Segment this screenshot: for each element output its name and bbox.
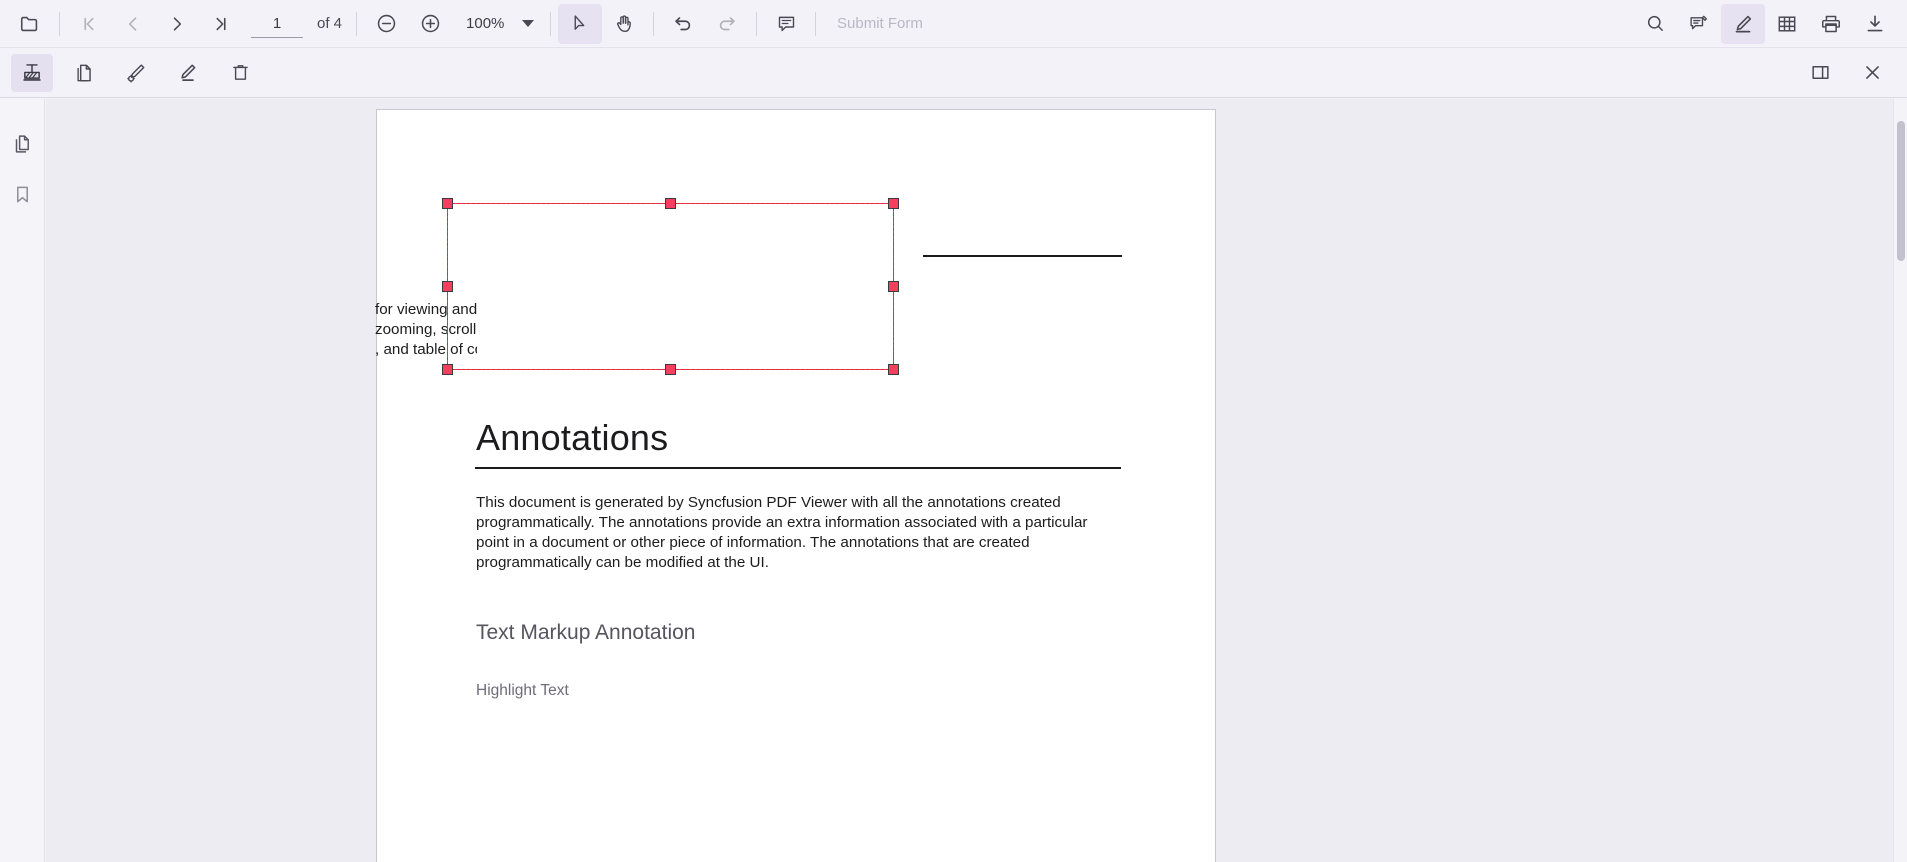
document-viewer[interactable]: for viewing and printing PDF files. It z…: [46, 99, 1893, 862]
left-sidebar: [0, 99, 45, 862]
zoom-out-icon: [375, 12, 398, 35]
document-subsubheading: Highlight Text: [476, 682, 569, 700]
form-table-icon: [1776, 13, 1798, 35]
search-icon: [1645, 13, 1666, 34]
resize-handle-top-right[interactable]: [888, 198, 899, 209]
folder-icon: [19, 13, 41, 35]
print-button[interactable]: [1809, 4, 1853, 44]
first-page-icon: [79, 14, 99, 34]
zoom-out-button[interactable]: [364, 4, 408, 44]
download-icon: [1864, 13, 1886, 35]
resize-handle-middle-right[interactable]: [888, 281, 899, 292]
toolbar-divider-5: [756, 12, 757, 36]
selection-rectangle[interactable]: [447, 203, 894, 370]
toggle-side-panel-button[interactable]: [1799, 54, 1841, 92]
vertical-scrollbar-thumb[interactable]: [1897, 121, 1905, 261]
last-page-button[interactable]: [199, 4, 243, 44]
shape-annotation-tool-button[interactable]: [11, 54, 53, 92]
edit-annotation-pen-button[interactable]: [167, 54, 209, 92]
form-designer-button[interactable]: [1765, 4, 1809, 44]
edit-annotation-button[interactable]: [1721, 4, 1765, 44]
comment-edit-icon: [1688, 13, 1710, 35]
document-subheading: Text Markup Annotation: [476, 621, 695, 645]
side-panel-icon: [1810, 62, 1831, 83]
delete-annotation-button[interactable]: [219, 54, 261, 92]
page-thumbnails-icon: [11, 133, 33, 155]
toolbar-divider-3: [550, 12, 551, 36]
page-number-input[interactable]: [251, 10, 303, 38]
pdf-page-1[interactable]: for viewing and printing PDF files. It z…: [376, 109, 1216, 862]
zoom-level-value: 100%: [466, 15, 508, 32]
sidebar-item-thumbnails[interactable]: [3, 125, 41, 163]
open-file-button[interactable]: [8, 4, 52, 44]
pen-icon: [177, 62, 199, 84]
zoom-in-icon: [419, 12, 442, 35]
resize-handle-bottom-right[interactable]: [888, 364, 899, 375]
hand-icon: [613, 13, 635, 35]
annotation-properties-button[interactable]: [115, 54, 157, 92]
comment-button[interactable]: [764, 4, 808, 44]
first-page-button[interactable]: [67, 4, 111, 44]
submit-form-button[interactable]: Submit Form: [823, 7, 937, 41]
chevron-down-icon: [522, 20, 534, 27]
toolbar-divider-4: [653, 12, 654, 36]
bookmark-icon: [12, 184, 33, 205]
comment-icon: [776, 13, 797, 34]
chevron-left-icon: [123, 14, 143, 34]
stamp-shape-icon: [21, 62, 43, 84]
pen-settings-icon: [125, 62, 147, 84]
undo-icon: [672, 13, 694, 35]
previous-page-button[interactable]: [111, 4, 155, 44]
pan-tool-button[interactable]: [602, 4, 646, 44]
duplicate-page-icon: [73, 62, 95, 84]
cursor-arrow-icon: [570, 13, 591, 34]
zoom-level-dropdown[interactable]: 100%: [456, 8, 538, 40]
pen-edit-icon: [1732, 13, 1754, 35]
toolbar-divider-2: [356, 12, 357, 36]
page-navigation-group: of 4: [251, 10, 342, 38]
chevron-right-icon: [167, 14, 187, 34]
last-page-icon: [211, 14, 231, 34]
copy-annotation-button[interactable]: [63, 54, 105, 92]
close-annotation-toolbar-button[interactable]: [1851, 54, 1893, 92]
redo-icon: [716, 13, 738, 35]
zoom-in-button[interactable]: [408, 4, 452, 44]
trash-icon: [230, 62, 251, 83]
download-button[interactable]: [1853, 4, 1897, 44]
next-page-button[interactable]: [155, 4, 199, 44]
select-tool-button[interactable]: [558, 4, 602, 44]
printer-icon: [1820, 13, 1842, 35]
annotation-toolbar: [0, 48, 1907, 98]
toolbar-divider-1: [59, 12, 60, 36]
search-button[interactable]: [1633, 4, 1677, 44]
document-paragraph: This document is generated by Syncfusion…: [476, 493, 1110, 573]
resize-handle-top-center[interactable]: [665, 198, 676, 209]
document-heading: Annotations: [476, 417, 668, 459]
close-icon: [1862, 62, 1883, 83]
page-count-label: of 4: [317, 15, 342, 32]
undo-button[interactable]: [661, 4, 705, 44]
resize-handle-middle-left[interactable]: [442, 281, 453, 292]
top-toolbar: of 4 100%: [0, 0, 1907, 48]
vertical-scrollbar[interactable]: [1893, 99, 1907, 862]
sidebar-item-bookmarks[interactable]: [3, 175, 41, 213]
resize-handle-bottom-left[interactable]: [442, 364, 453, 375]
redo-button[interactable]: [705, 4, 749, 44]
heading-rule: [475, 467, 1121, 469]
resize-handle-top-left[interactable]: [442, 198, 453, 209]
resize-handle-bottom-center[interactable]: [665, 364, 676, 375]
toolbar-divider-6: [815, 12, 816, 36]
annotation-comment-button[interactable]: [1677, 4, 1721, 44]
